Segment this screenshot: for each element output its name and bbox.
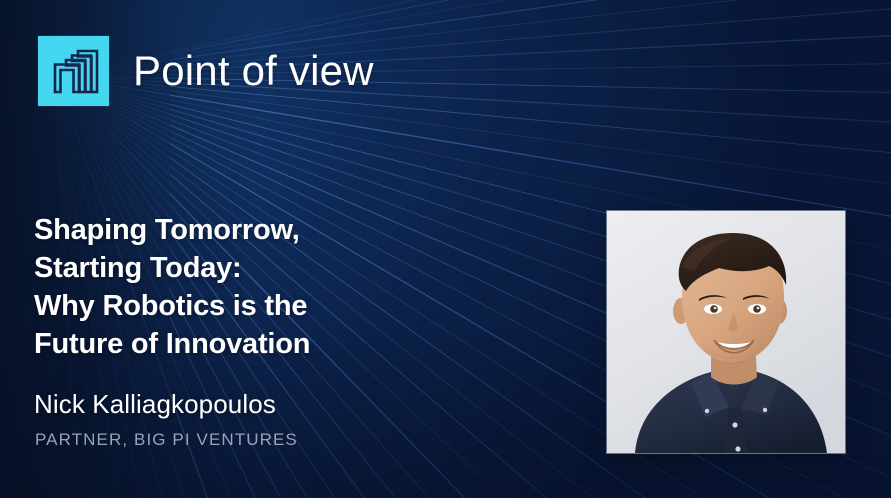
brand-title: Point of view bbox=[133, 50, 374, 92]
headline-line-2: Starting Today: bbox=[34, 249, 504, 287]
headline-line-1: Shaping Tomorrow, bbox=[34, 211, 504, 249]
nested-arch-logo-icon bbox=[38, 36, 109, 106]
point-of-view-slide: Point of view Shaping Tomorrow, Starting… bbox=[0, 0, 891, 498]
headline-line-3: Why Robotics is the bbox=[34, 287, 504, 325]
speaker-name: Nick Kalliagkopoulos bbox=[34, 389, 276, 420]
headline-line-4: Future of Innovation bbox=[34, 325, 504, 363]
brand-header: Point of view bbox=[38, 36, 374, 106]
speaker-role: PARTNER, BIG PI VENTURES bbox=[35, 430, 298, 450]
speaker-portrait bbox=[607, 211, 845, 453]
headline: Shaping Tomorrow, Starting Today: Why Ro… bbox=[34, 211, 504, 363]
